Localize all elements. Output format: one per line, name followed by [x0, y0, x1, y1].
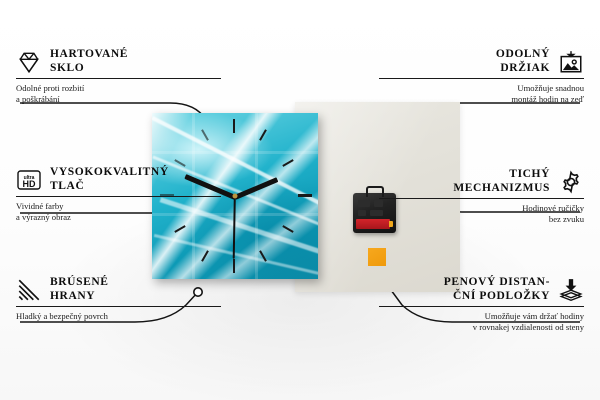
feature-desc: Hodinové ručičky bez zvuku — [379, 203, 584, 225]
svg-text:HD: HD — [23, 179, 36, 189]
diamond-icon — [16, 49, 42, 75]
picture-hanger-icon — [558, 49, 584, 75]
divider — [379, 78, 584, 79]
feature-foam-spacers: PENOVÝ DISTAN- ČNÍ PODLOŽKY Umožňuje vám… — [379, 276, 584, 333]
divider — [16, 196, 221, 197]
feature-desc: Hladký a bezpečný povrch — [16, 311, 221, 322]
infographic-canvas: HARTOVANÉ SKLO Odolné proti rozbití a po… — [0, 0, 600, 400]
feature-polished-edges: BRÚSENÉ HRANY Hladký a bezpečný povrch — [16, 276, 221, 322]
foam-spacer-icon — [558, 277, 584, 303]
divider — [379, 306, 584, 307]
feature-title: BRÚSENÉ HRANY — [50, 276, 109, 303]
gear-icon — [558, 169, 584, 195]
feature-title: PENOVÝ DISTAN- ČNÍ PODLOŽKY — [444, 276, 550, 303]
feature-title: HARTOVANÉ SKLO — [50, 48, 128, 75]
feature-tempered-glass: HARTOVANÉ SKLO Odolné proti rozbití a po… — [16, 48, 221, 105]
ultra-hd-icon: ultra HD — [16, 167, 42, 193]
feature-hq-print: ultra HD VYSOKOKVALITNÝ TLAČ Vividné far… — [16, 166, 221, 223]
divider — [379, 198, 584, 199]
foam-spacer-pad — [368, 248, 386, 266]
feature-title: ODOLNÝ DRŽIAK — [496, 48, 550, 75]
movement-slot — [358, 200, 370, 207]
clock-hub — [233, 194, 238, 199]
feature-durable-hanger: ODOLNÝ DRŽIAK Umožňuje snadnou montáž ho… — [379, 48, 584, 105]
feature-desc: Odolné proti rozbití a poškrábání — [16, 83, 221, 105]
feature-desc: Umožňuje vám držať hodiny v rovnakej vzd… — [379, 311, 584, 333]
divider — [16, 306, 221, 307]
brushed-edges-icon — [16, 277, 42, 303]
feature-silent-movement: TICHÝ MECHANIZMUS Hodinové ručičky bez z… — [379, 168, 584, 225]
feature-desc: Vividné farby a výrazný obraz — [16, 201, 221, 223]
divider — [16, 78, 221, 79]
feature-title: VYSOKOKVALITNÝ TLAČ — [50, 166, 169, 193]
movement-slot — [358, 210, 366, 216]
feature-title: TICHÝ MECHANIZMUS — [453, 168, 550, 195]
feature-desc: Umožňuje snadnou montáž hodin na zeď — [379, 83, 584, 105]
